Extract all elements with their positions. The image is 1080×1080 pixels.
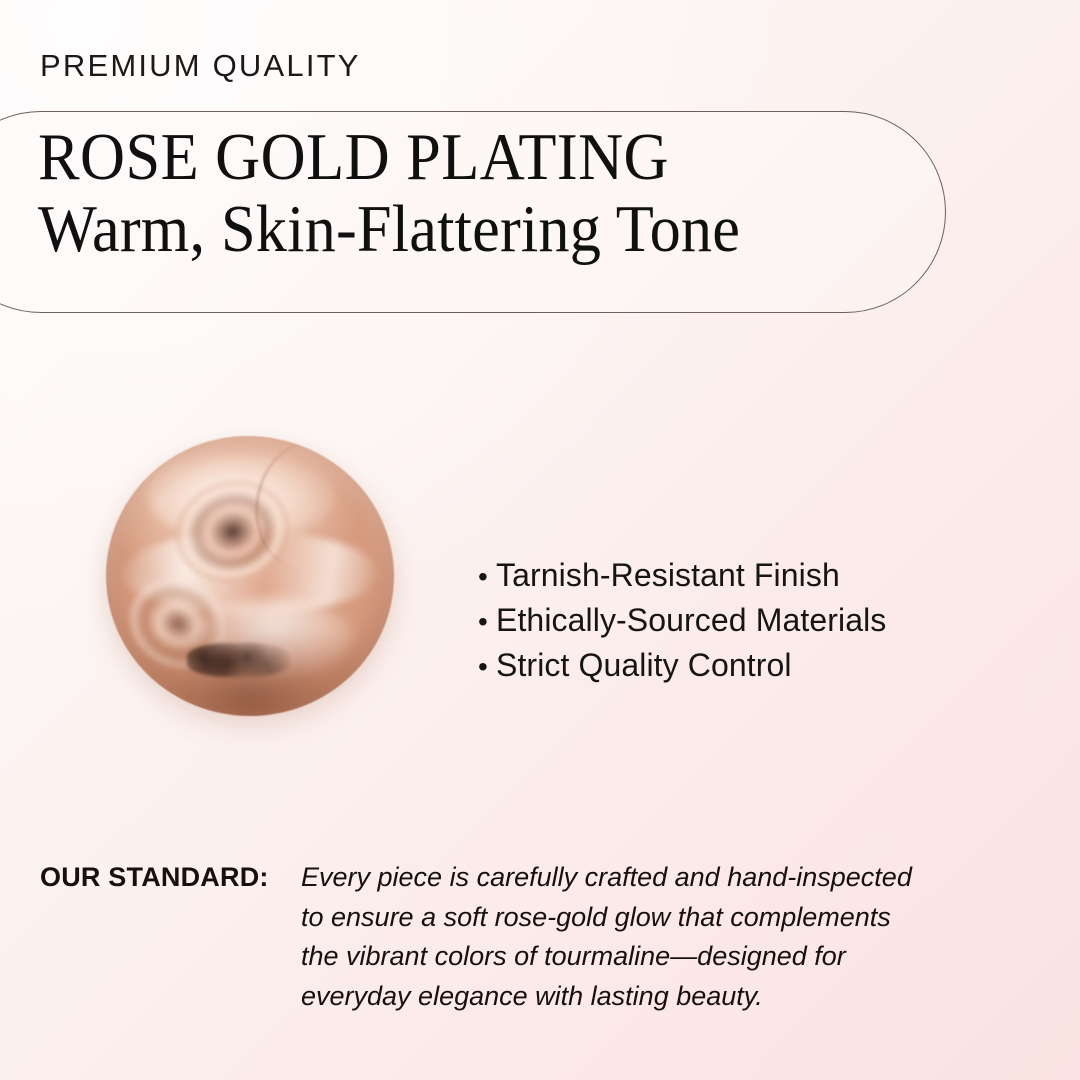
product-image bbox=[98, 428, 404, 724]
headline-primary: ROSE GOLD PLATING bbox=[38, 124, 875, 190]
sphere-gloss bbox=[192, 598, 353, 676]
sphere-specks bbox=[187, 643, 291, 677]
poster-canvas: PREMIUM QUALITY ROSE GOLD PLATING Warm, … bbox=[0, 0, 1080, 1080]
sphere-seam bbox=[247, 436, 370, 577]
bullet-icon: • bbox=[478, 653, 496, 681]
list-item: • Ethically-Sourced Materials bbox=[478, 602, 998, 639]
sphere-shadow bbox=[118, 615, 383, 716]
sphere-rim bbox=[106, 436, 394, 716]
standard-label: OUR STANDARD: bbox=[40, 862, 269, 893]
feature-label: Ethically-Sourced Materials bbox=[496, 602, 886, 639]
list-item: • Tarnish-Resistant Finish bbox=[478, 557, 998, 594]
standard-line: to ensure a soft rose-gold glow that com… bbox=[301, 898, 1040, 938]
eyebrow-text: PREMIUM QUALITY bbox=[40, 48, 361, 84]
standard-line: Every piece is carefully crafted and han… bbox=[301, 858, 1040, 898]
sphere-reflection-band bbox=[123, 531, 376, 615]
headline-secondary: Warm, Skin-Flattering Tone bbox=[38, 196, 875, 262]
rose-gold-sphere-icon bbox=[106, 436, 394, 716]
bullet-icon: • bbox=[478, 608, 496, 636]
standard-body: Every piece is carefully crafted and han… bbox=[301, 858, 1040, 1017]
bullet-icon: • bbox=[478, 563, 496, 591]
feature-label: Tarnish-Resistant Finish bbox=[496, 557, 840, 594]
sphere-highlight-top bbox=[146, 447, 336, 542]
feature-label: Strict Quality Control bbox=[496, 647, 792, 684]
standard-line: everyday elegance with lasting beauty. bbox=[301, 977, 1040, 1017]
standard-line: the vibrant colors of tourmaline—designe… bbox=[301, 937, 1040, 977]
sphere-swirl-upper bbox=[162, 465, 303, 596]
headline-block: ROSE GOLD PLATING Warm, Skin-Flattering … bbox=[38, 124, 938, 263]
standard-block: OUR STANDARD: Every piece is carefully c… bbox=[40, 858, 1040, 1017]
list-item: • Strict Quality Control bbox=[478, 647, 998, 684]
feature-list: • Tarnish-Resistant Finish • Ethically-S… bbox=[478, 557, 998, 692]
